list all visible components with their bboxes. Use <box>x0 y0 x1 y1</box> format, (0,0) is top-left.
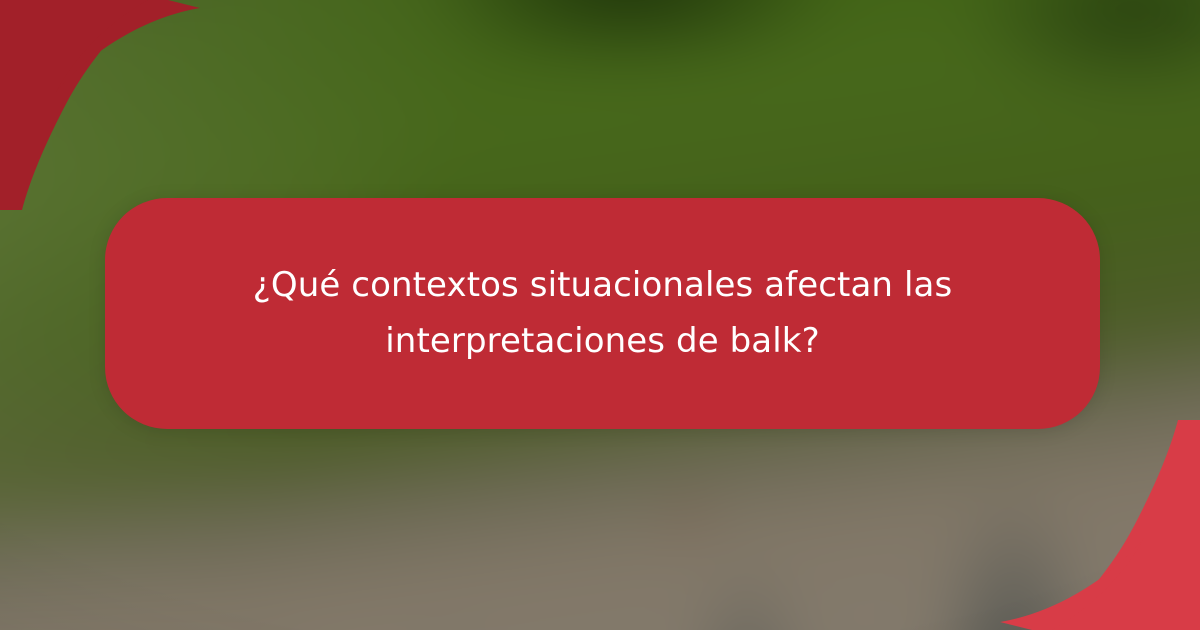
question-text: ¿Qué contextos situacionales afectan las… <box>173 258 1033 368</box>
question-card: ¿Qué contextos situacionales afectan las… <box>105 198 1100 429</box>
social-card-canvas: ¿Qué contextos situacionales afectan las… <box>0 0 1200 630</box>
